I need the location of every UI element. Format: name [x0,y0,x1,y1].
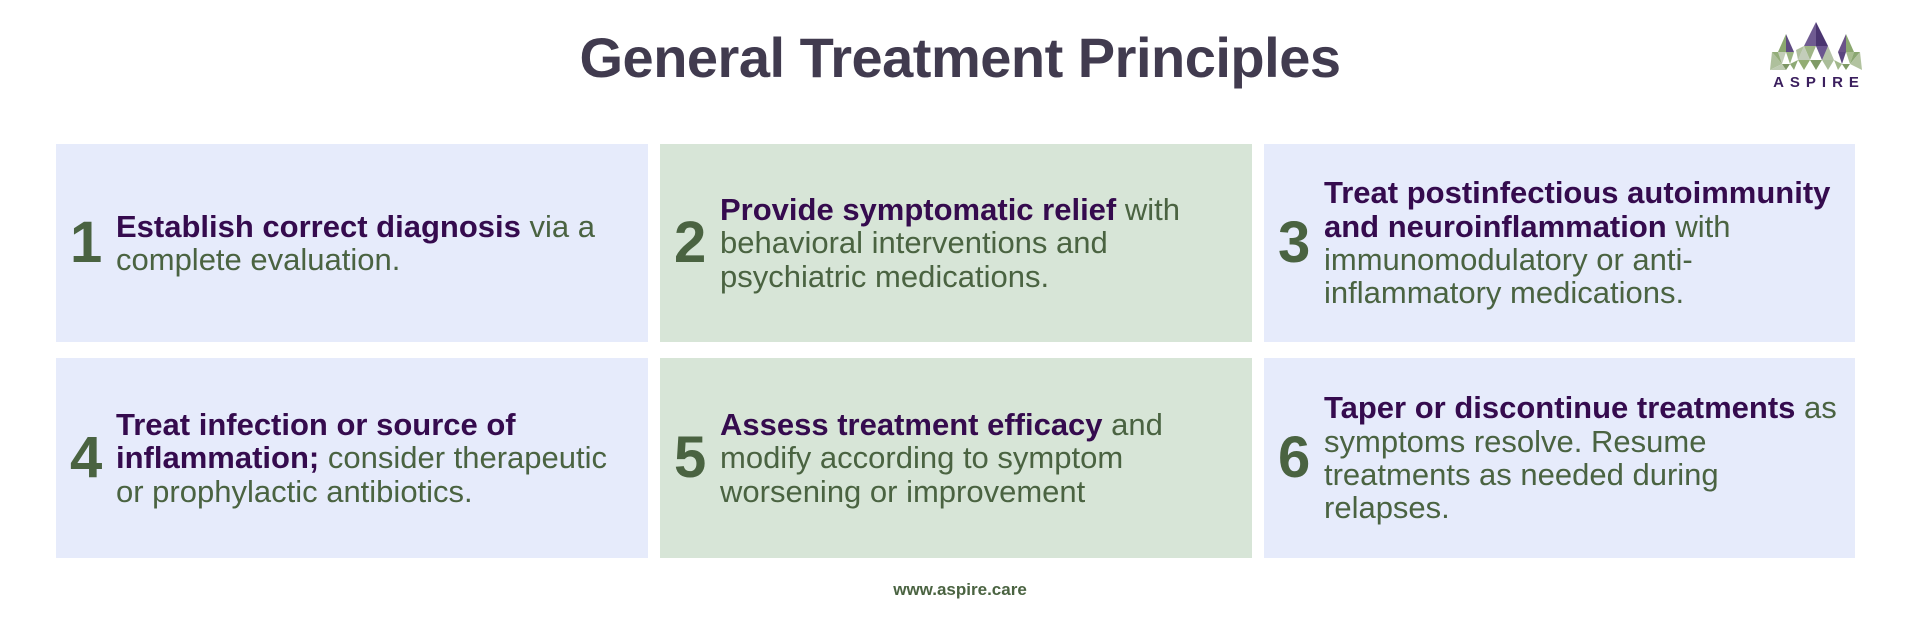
card-text-4: Treat infection or source of inflammatio… [116,408,638,508]
card-text-2: Provide symptomatic relief with behavior… [720,193,1242,293]
card-text-3: Treat postinfectious autoimmunity and ne… [1324,176,1845,310]
principles-grid: 1 Establish correct diagnosis via a comp… [56,144,1865,558]
card-number-4: 4 [70,429,110,487]
card-text-6: Taper or discontinue treatments as sympt… [1324,391,1845,525]
footer-website[interactable]: www.aspire.care [0,580,1920,600]
card-number-3: 3 [1278,214,1318,272]
card-number-6: 6 [1278,429,1318,487]
logo-wordmark: ASPIRE [1760,74,1872,91]
card-lead-6: Taper or discontinue treatments [1324,390,1795,425]
mountain-range-icon [1760,20,1872,72]
card-number-5: 5 [674,429,714,487]
card-lead-1: Establish correct diagnosis [116,209,521,244]
principle-card-3: 3 Treat postinfectious autoimmunity and … [1264,144,1855,342]
card-number-1: 1 [70,214,110,272]
card-lead-5: Assess treatment efficacy [720,407,1103,442]
principle-card-1: 1 Establish correct diagnosis via a comp… [56,144,648,342]
aspire-logo: ASPIRE [1760,20,1872,98]
principle-card-4: 4 Treat infection or source of inflammat… [56,358,648,558]
card-text-1: Establish correct diagnosis via a comple… [116,210,638,277]
card-number-2: 2 [674,214,714,272]
principle-card-5: 5 Assess treatment efficacy and modify a… [660,358,1252,558]
card-text-5: Assess treatment efficacy and modify acc… [720,408,1242,508]
principle-card-6: 6 Taper or discontinue treatments as sym… [1264,358,1855,558]
page-header: General Treatment Principles [0,0,1920,120]
principle-card-2: 2 Provide symptomatic relief with behavi… [660,144,1252,342]
card-lead-2: Provide symptomatic relief [720,192,1116,227]
page-title: General Treatment Principles [0,26,1920,90]
card-lead-3: Treat postinfectious autoimmunity and ne… [1324,175,1830,243]
